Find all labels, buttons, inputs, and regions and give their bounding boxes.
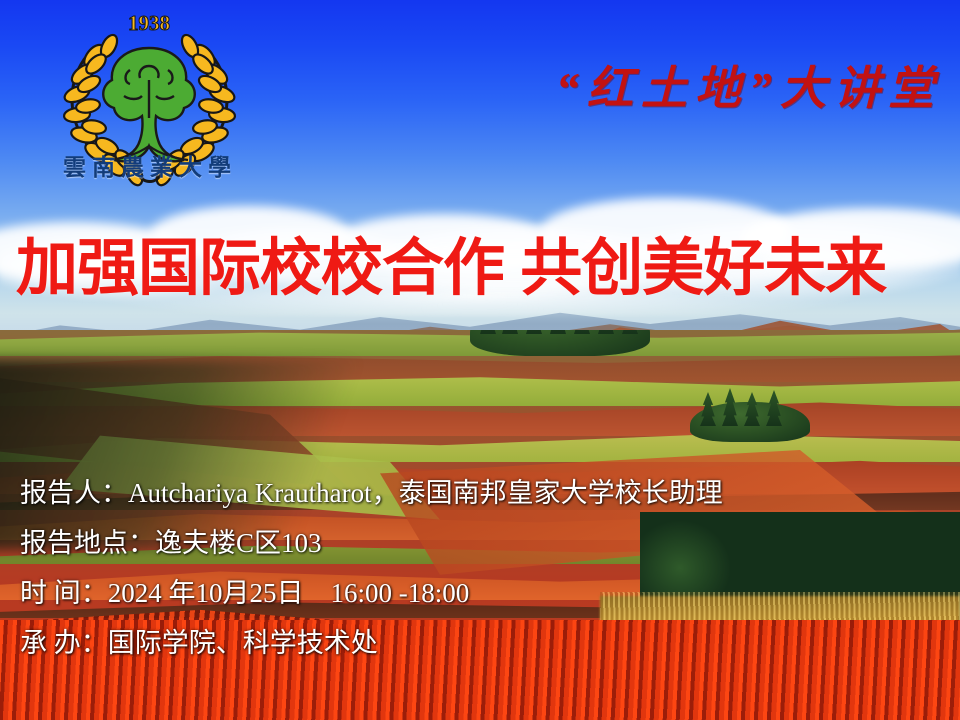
poster-headline: 加强国际校校合作 共创美好未来: [16, 238, 946, 300]
event-details: 报告人：Autchariya Krautharot，泰国南邦皇家大学校长助理 报…: [20, 468, 940, 668]
conifer-tree: [574, 330, 590, 334]
conifer-tree: [622, 330, 638, 334]
conifer-tree: [598, 330, 614, 334]
emblem-year: 1938: [128, 11, 170, 35]
series-title: “红土地”大讲堂: [556, 52, 942, 118]
event-poster: 1938 雲南農業大學 “红土地”大讲堂 加强国际校校合作 共创美好未来 报告人…: [0, 0, 960, 720]
detail-venue: 报告地点：逸夫楼C区103: [20, 518, 940, 568]
conifer-tree: [480, 330, 496, 334]
university-name: 雲南農業大學: [50, 148, 250, 182]
conifer-tree: [550, 330, 566, 334]
detail-speaker: 报告人：Autchariya Krautharot，泰国南邦皇家大学校长助理: [20, 468, 940, 518]
conifer-tree: [526, 330, 542, 334]
detail-time: 时 间：2024 年10月25日 16:00 -18:00: [20, 568, 940, 618]
conifer-tree: [502, 330, 518, 334]
detail-organizer: 承 办：国际学院、科学技术处: [20, 618, 940, 668]
